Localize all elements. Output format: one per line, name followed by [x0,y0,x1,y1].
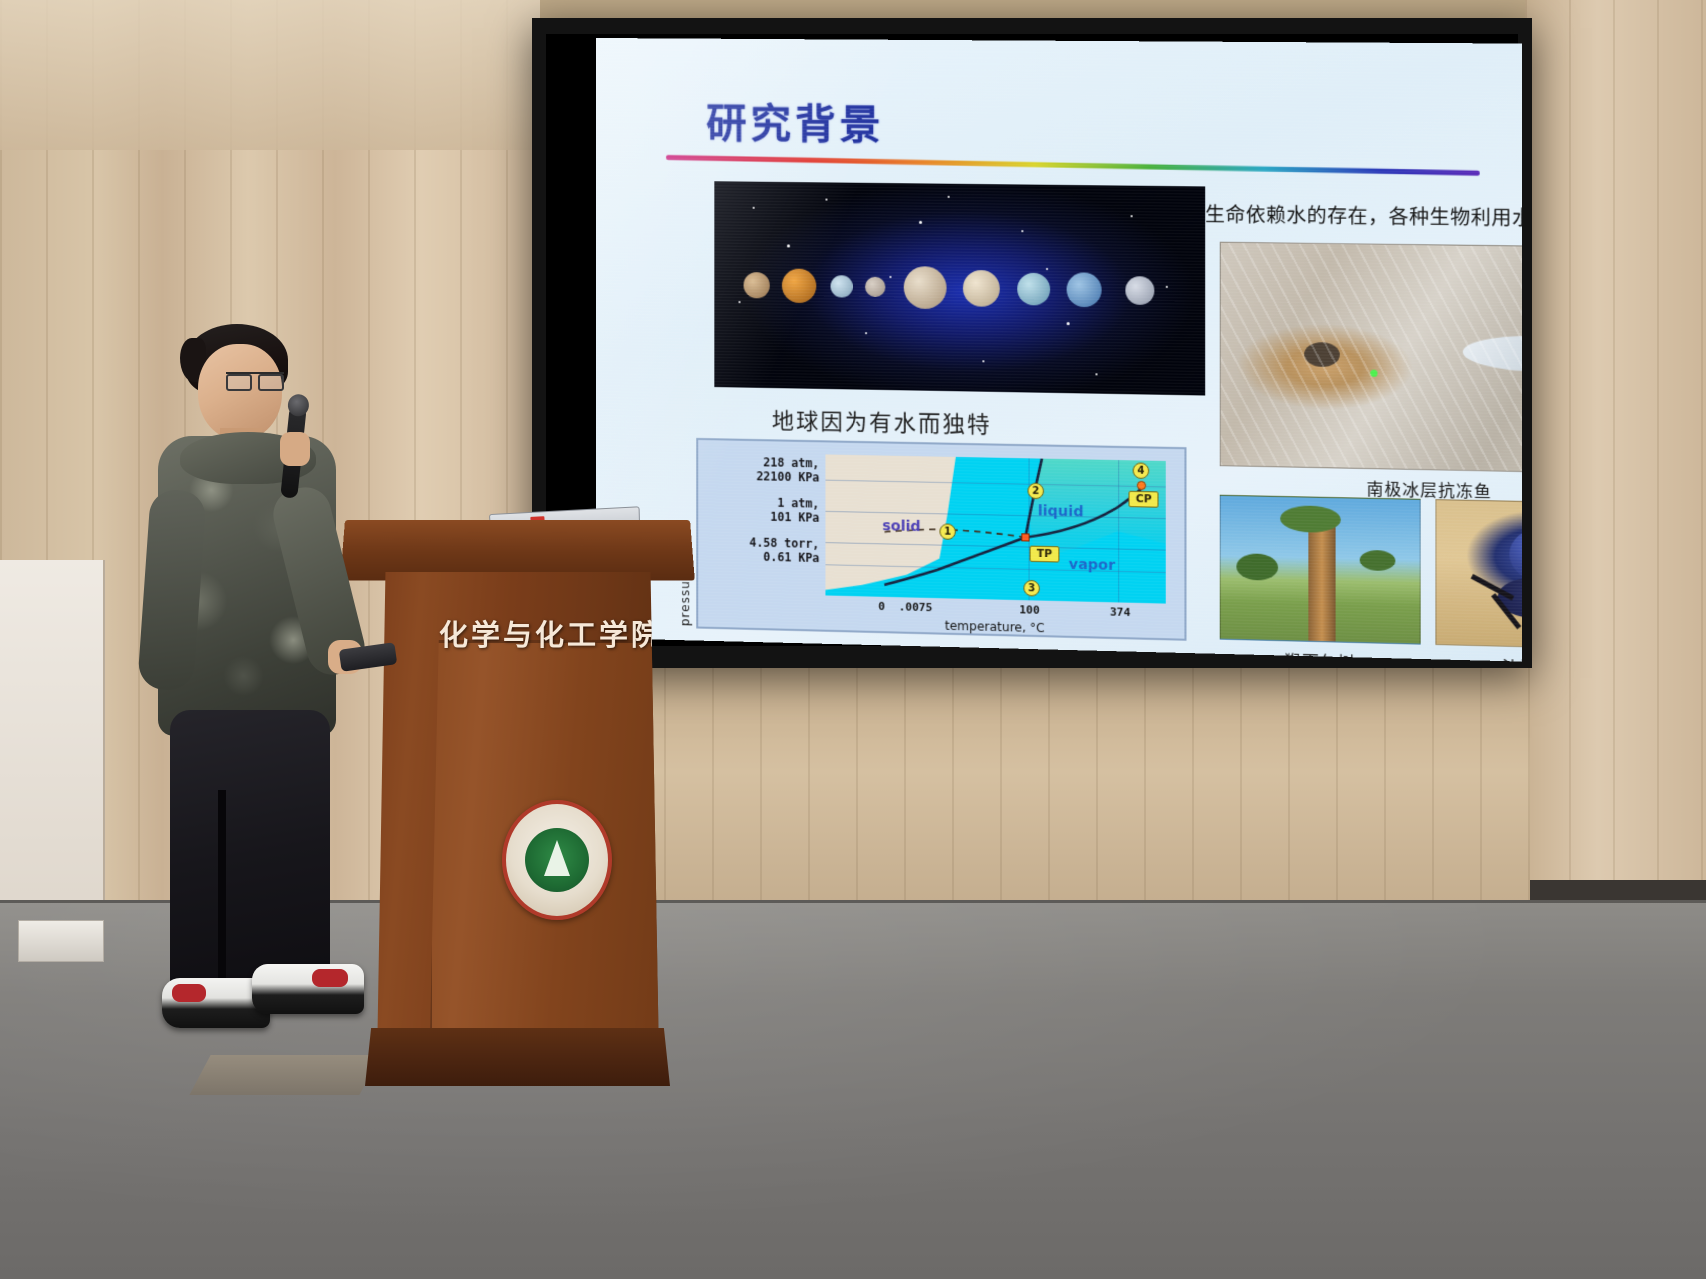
caption-baobab-tree: 猴面包树 [1220,646,1421,662]
state-marker-1: 1 [939,523,955,540]
presenter [140,310,420,1070]
caption-desert-beetle: 沙漠甲虫 [1435,651,1522,661]
desert-beetle-photo [1435,499,1522,650]
region-label-solid: solid [882,518,920,535]
wall-white-panel [0,560,105,940]
presenter-leg-gap [218,790,226,986]
phase-diagram-caption: 水的气液固三相可以同时出现 [708,637,1005,662]
planet-saturn [963,269,1000,306]
planet-pluto [1126,276,1155,305]
wall-right-wood-panel [1525,0,1706,880]
xtick-374: 374 [1110,605,1131,619]
phase-diagram-x-axis-label: temperature, °C [825,616,1165,639]
phase-boundary-curves [825,454,1165,603]
ytick-218atm-line1: 218 atm, [763,455,819,470]
baobab-tree-photo [1220,495,1421,645]
ytick-1atm-line2: 101 KPa [770,510,819,525]
presenter-head [198,344,282,440]
phase-diagram-plot-area: solid liquid vapor TP CP 1 2 3 4 [825,454,1165,603]
antarctic-icefish-photo [1220,242,1522,475]
solar-system-planets-image [714,181,1205,395]
planet-earth [831,275,853,297]
ytick-1atm-line1: 1 atm, [777,496,819,511]
region-label-vapor: vapor [1069,557,1116,574]
ytick-458torr-line2: 0.61 KPa [763,550,819,565]
planet-mercury [743,271,769,298]
wall-left-upper [0,0,540,150]
state-marker-4: 4 [1133,462,1150,479]
presenter-trousers [170,710,330,1000]
lecture-hall-scene: 研究背景 [0,0,1706,1279]
phase-diagram-ytick-labels: 218 atm,22100 KPa 1 atm,101 KPa 4.58 tor… [706,454,819,576]
presenter-hand-holding-mic [280,432,310,466]
triple-point-marker [1021,533,1029,541]
planet-venus [782,268,816,303]
planet-jupiter [904,266,947,309]
xtick-0: 0 [878,600,885,613]
planet-mars [865,276,885,296]
crest-pine-symbol [525,828,589,892]
xtick-100: 100 [1019,603,1039,617]
planet-uranus [1017,272,1050,305]
xtick-00075: .0075 [899,600,933,614]
critical-point-marker [1137,481,1146,490]
planet-neptune [1066,272,1101,307]
ytick-218atm-line2: 22100 KPa [756,470,819,485]
glasses-icon [226,372,284,386]
slide-right-headline: 生命依赖水的存在，各种生物利用水的“绝活” [1205,203,1522,232]
ytick-458torr-line1: 4.58 torr, [749,535,819,551]
lectern-department-text: 化学与化工学院 [429,612,673,654]
presentation-slide: 研究背景 [596,38,1522,662]
triple-point-label: TP [1030,546,1060,563]
slide-title-rainbow-rule [666,155,1480,176]
space-image-caption: 地球因为有水而独特 [772,403,992,439]
state-marker-2: 2 [1028,483,1044,500]
floor-white-box [18,920,104,962]
beijing-institute-of-technology-crest [502,800,612,920]
slide-title: 研究背景 [706,91,884,151]
state-marker-3: 3 [1023,580,1039,597]
region-label-liquid: liquid [1038,503,1084,520]
water-phase-diagram: 218 atm,22100 KPa 1 atm,101 KPa 4.58 tor… [696,438,1186,641]
presenter-right-sneaker [252,964,364,1014]
critical-point-label: CP [1129,491,1159,508]
